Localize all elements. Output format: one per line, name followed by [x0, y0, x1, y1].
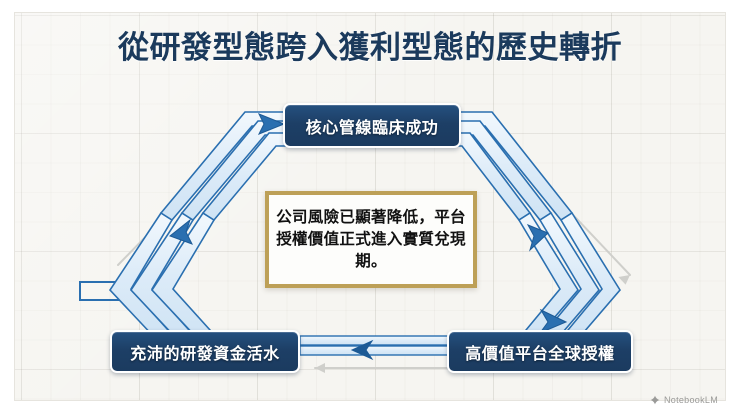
arrow-right-down [456, 112, 620, 339]
node-right-label: 高價值平台全球授權 [465, 340, 614, 364]
ghost-arrow-bottom [315, 363, 450, 373]
watermark-label: NotebookLM [664, 395, 718, 405]
node-global-licensing[interactable]: 高價值平台全球授權 [447, 330, 633, 373]
center-callout: 公司風險已顯著降低，平台授權價值正式進入實質兌現期。 [265, 191, 477, 288]
node-core-pipeline-success[interactable]: 核心管線臨床成功 [283, 103, 461, 148]
node-top-label: 核心管線臨床成功 [306, 114, 439, 138]
slide-root: 從研發型態跨入獲利型態的歷史轉折 [0, 0, 740, 413]
arrow-left-up [80, 112, 290, 339]
callout-text: 公司風險已顯著降低，平台授權價值正式進入實質兌現期。 [275, 207, 467, 273]
node-rd-funding[interactable]: 充沛的研發資金活水 [110, 330, 300, 373]
node-left-label: 充沛的研發資金活水 [130, 340, 279, 364]
notebooklm-logo-icon [650, 395, 660, 405]
arrow-bottom-left [300, 336, 450, 359]
notebooklm-watermark: NotebookLM [650, 395, 718, 405]
